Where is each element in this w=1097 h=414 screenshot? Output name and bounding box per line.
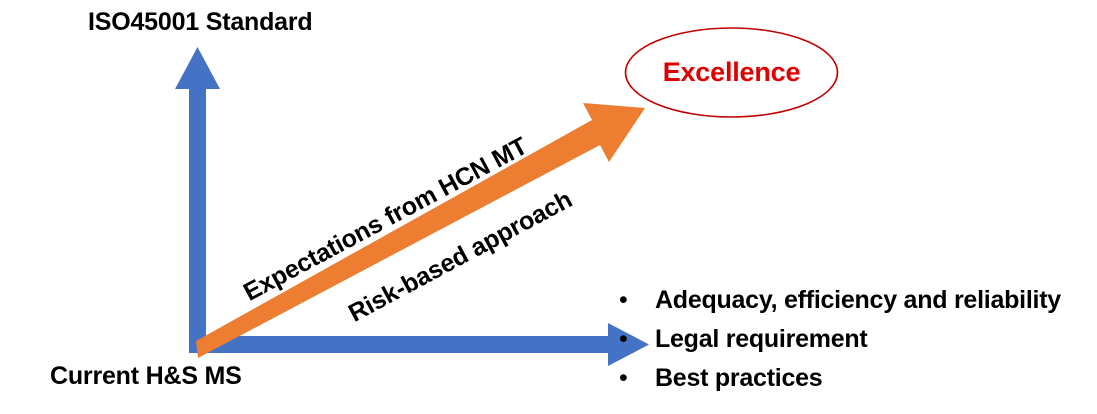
bullet-marker-icon: • [614, 288, 655, 313]
bullet-marker-icon: • [614, 366, 655, 391]
list-item: • Best practices [614, 366, 1084, 405]
origin-label: Current H&S MS [50, 364, 242, 389]
list-item-label: Legal requirement [655, 327, 867, 352]
horizontal-axis-arrow-icon [189, 323, 649, 366]
list-item: • Legal requirement [614, 327, 1084, 366]
list-item-label: Best practices [655, 366, 822, 391]
diagram-canvas: ISO45001 Standard Current H&S MS Expecta… [0, 0, 1097, 414]
diagonal-progress-arrow-icon [196, 103, 645, 358]
bullet-marker-icon: • [614, 327, 655, 352]
list-item-label: Adequacy, efficiency and reliability [655, 288, 1061, 313]
list-item: • Adequacy, efficiency and reliability [614, 288, 1084, 327]
goal-label: Excellence [625, 28, 838, 117]
y-axis-label: ISO45001 Standard [88, 10, 312, 35]
vertical-axis-arrow-icon [175, 47, 220, 353]
requirements-list: • Adequacy, efficiency and reliability •… [614, 288, 1084, 405]
